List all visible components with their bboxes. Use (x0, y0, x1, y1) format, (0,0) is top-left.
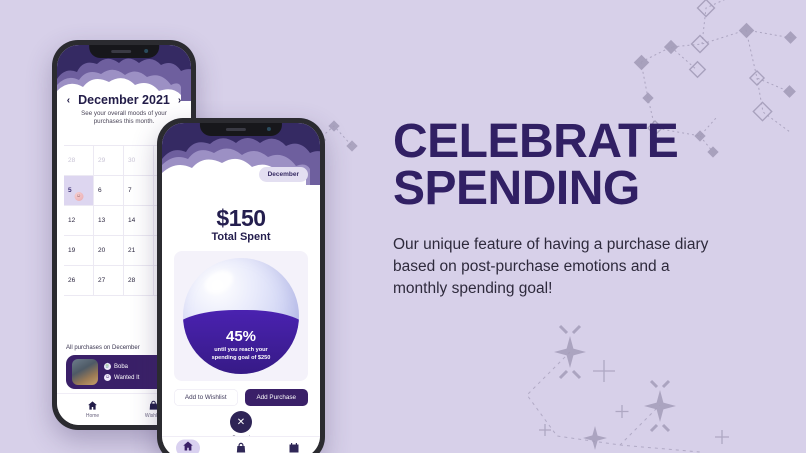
spending-bubble-panel: 45% until you reach your spending goal o… (174, 251, 308, 381)
action-button-row: Add to Wishlist Add Purchase (174, 389, 308, 406)
phone-right-screen: December $150 Total Spent 45% until you … (162, 123, 320, 453)
calendar-day-number: 29 (98, 157, 105, 164)
progress-caption-line-2: spending goal of $250 (183, 354, 299, 362)
purchase-details: 🍵 Boba ☺ Wanted It (104, 363, 139, 381)
phone-notch (200, 123, 282, 136)
calendar-day-cell[interactable]: 28 (124, 266, 154, 296)
bottom-tab-bar[interactable] (162, 436, 320, 453)
calendar-day-number: 6 (98, 187, 102, 194)
calendar-day-number: 21 (128, 247, 135, 254)
calendar-day-cell[interactable]: 13 (94, 206, 124, 236)
add-to-wishlist-button[interactable]: Add to Wishlist (174, 389, 238, 406)
calendar-day-number: 27 (98, 277, 105, 284)
calendar-day-cell[interactable]: 5☺ (64, 176, 94, 206)
tab-home[interactable]: Home (86, 400, 99, 419)
calendar-day-number: 13 (98, 217, 105, 224)
mood-emoji-icon: ☺ (74, 192, 83, 201)
calendar-day-number: 19 (68, 247, 75, 254)
calendar-day-cell[interactable]: 19 (64, 236, 94, 266)
add-purchase-button[interactable]: Add Purchase (245, 389, 309, 406)
calendar-day-cell[interactable]: 20 (94, 236, 124, 266)
calendar-day-number: 30 (128, 157, 135, 164)
progress-percentage: 45% (183, 329, 299, 346)
next-month-arrow-icon[interactable]: › (178, 95, 181, 106)
speaker-icon (111, 50, 131, 53)
copy-block: CELEBRATE SPENDING Our unique feature of… (393, 118, 723, 300)
camera-icon (144, 49, 148, 53)
calendar-day-number: 7 (128, 187, 132, 194)
purchase-mood-row: ☺ Wanted It (104, 374, 139, 381)
month-selector-pill[interactable]: December (259, 167, 308, 182)
bag-icon[interactable] (235, 442, 247, 453)
camera-icon (267, 127, 271, 131)
phone-notch (89, 45, 159, 58)
calendar-day-cell[interactable]: 29 (94, 146, 124, 176)
emotion-icon: ☺ (104, 374, 111, 381)
calendar-day-cell[interactable]: 12 (64, 206, 94, 236)
progress-caption-line-1: until you reach your (183, 346, 299, 354)
calendar-day-cell[interactable]: 26 (64, 266, 94, 296)
calendar-day-cell[interactable]: 6 (94, 176, 124, 206)
calendar-day-number: 12 (68, 217, 75, 224)
calendar-day-cell[interactable]: 28 (64, 146, 94, 176)
calendar-day-number: 28 (68, 157, 75, 164)
calendar-day-number: 28 (128, 277, 135, 284)
calendar-day-number: 5 (68, 187, 72, 194)
calendar-day-number: 20 (98, 247, 105, 254)
calendar-day-cell[interactable]: 27 (94, 266, 124, 296)
purchase-mood: Wanted It (114, 375, 139, 381)
purchase-name-row: 🍵 Boba (104, 363, 139, 370)
calendar-day-cell[interactable]: 7 (124, 176, 154, 206)
calendar-day-cell[interactable]: 21 (124, 236, 154, 266)
calendar-month-title: December 2021 (78, 93, 170, 107)
headline-line-1: CELEBRATE (393, 118, 723, 165)
home-icon (182, 440, 194, 452)
purchase-thumbnail (72, 359, 98, 385)
spending-progress-bubble: 45% until you reach your spending goal o… (183, 258, 299, 374)
purchase-name: Boba (114, 364, 128, 370)
close-icon[interactable]: ✕ (230, 411, 252, 433)
calendar-day-cell[interactable]: 30 (124, 146, 154, 176)
food-icon: 🍵 (104, 363, 111, 370)
calendar-title-row: ‹ December 2021 › (57, 93, 191, 107)
speaker-icon (226, 128, 246, 131)
page-title: CELEBRATE SPENDING (393, 118, 723, 212)
promo-banner: CELEBRATE SPENDING Our unique feature of… (0, 0, 806, 453)
total-spent-amount: $150 (162, 205, 320, 232)
tab-home-label: Home (86, 413, 99, 419)
prev-month-arrow-icon[interactable]: ‹ (67, 95, 70, 106)
bubble-highlight (201, 266, 237, 298)
bubble-text-group: 45% until you reach your spending goal o… (183, 329, 299, 362)
total-spent-label: Total Spent (162, 231, 320, 243)
tab-home[interactable] (182, 439, 194, 453)
purchases-list-label: All purchases on December (66, 345, 140, 351)
calendar-icon[interactable] (288, 442, 300, 453)
calendar-day-cell[interactable]: 14 (124, 206, 154, 236)
headline-line-2: SPENDING (393, 165, 723, 212)
calendar-day-number: 14 (128, 217, 135, 224)
calendar-day-number: 26 (68, 277, 75, 284)
phone-mockup-spending: December $150 Total Spent 45% until you … (157, 118, 325, 453)
home-icon (87, 400, 98, 411)
subheading-text: Our unique feature of having a purchase … (393, 234, 723, 300)
